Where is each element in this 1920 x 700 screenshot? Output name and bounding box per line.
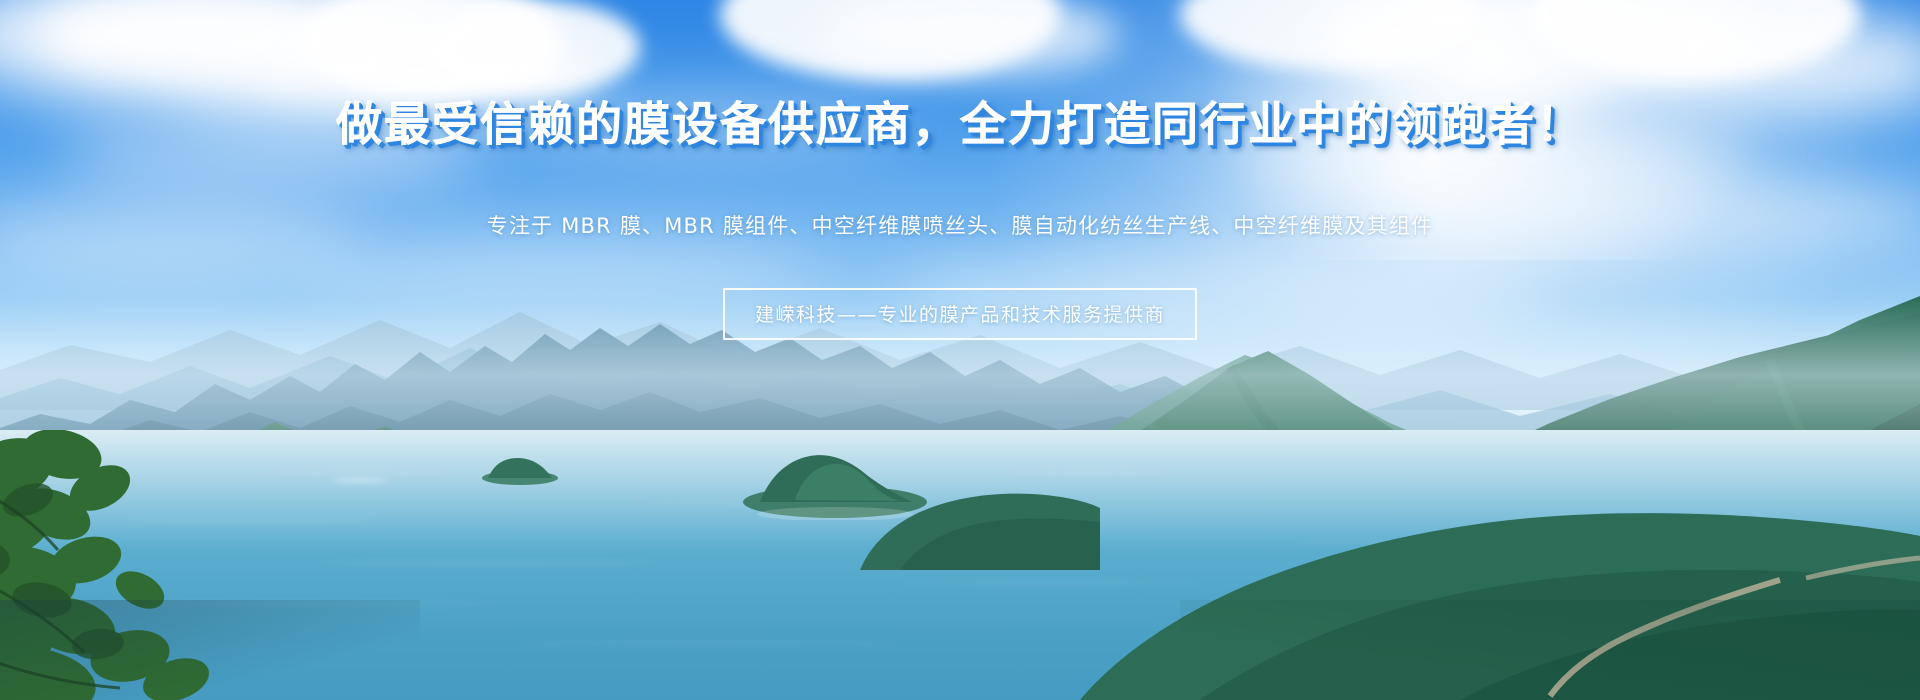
island-shore-right	[860, 460, 1100, 570]
water-shadow-right	[1180, 600, 1920, 700]
island-small-left	[480, 452, 560, 486]
boat-wake	[330, 478, 390, 482]
water-shadow-left	[0, 600, 420, 700]
hero-banner: 做最受信赖的膜设备供应商，全力打造同行业中的领跑者！ 专注于 MBR 膜、MBR…	[0, 0, 1920, 700]
